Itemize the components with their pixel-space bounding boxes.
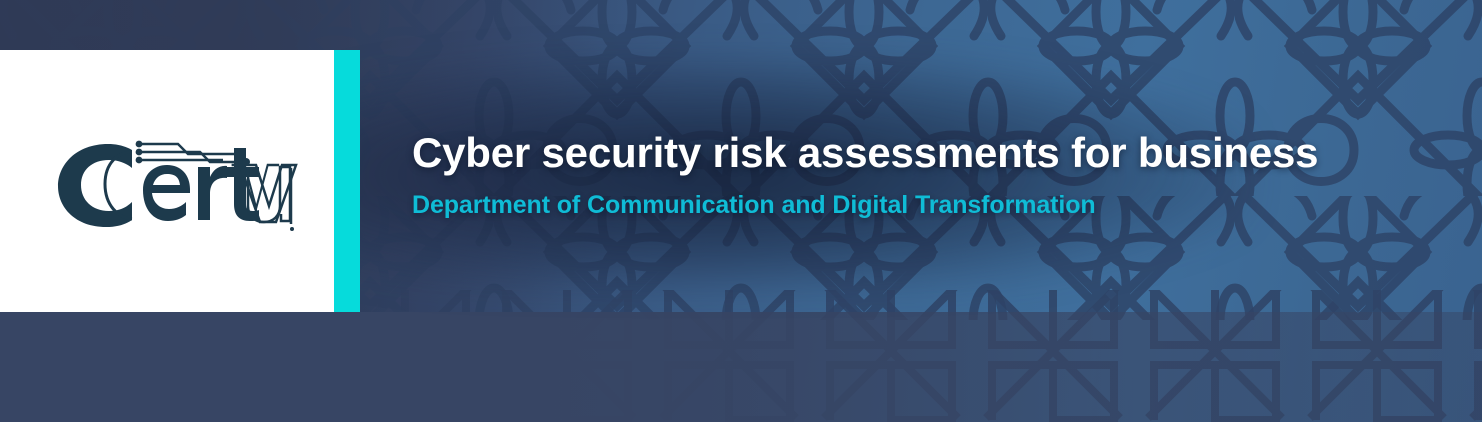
site-banner: Cyber security risk assessments for busi… xyxy=(0,0,1482,422)
banner-text-block: Cyber security risk assessments for busi… xyxy=(412,128,1452,220)
logo-panel xyxy=(0,50,334,312)
headline-part2: for business xyxy=(1060,129,1319,176)
headline-part1: Cyber security xyxy=(412,129,712,176)
certvu-logo-icon xyxy=(48,132,300,236)
page-subtitle: Department of Communication and Digital … xyxy=(412,190,1452,220)
cyan-accent-bar xyxy=(334,50,360,312)
headline-emphasis: risk assessments xyxy=(712,129,1059,176)
page-title: Cyber security risk assessments for busi… xyxy=(412,128,1452,178)
